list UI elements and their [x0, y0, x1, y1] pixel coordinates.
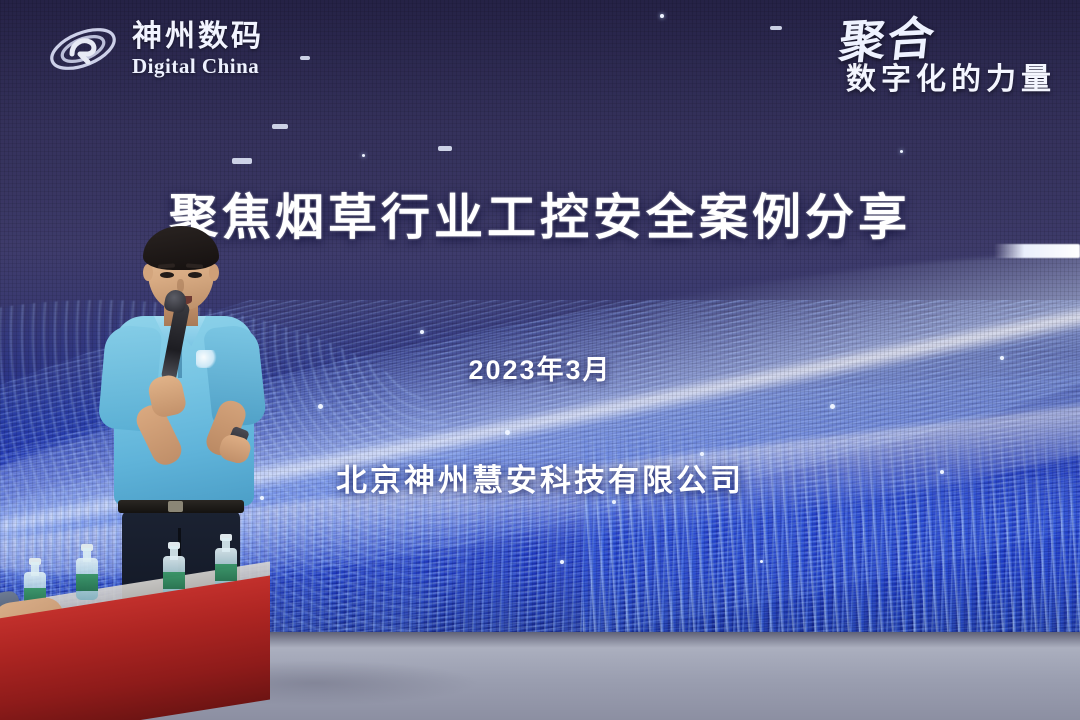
particle-dot — [362, 154, 365, 157]
particle-dot — [660, 14, 664, 18]
particle-dash — [770, 26, 782, 30]
particle-dot — [318, 404, 323, 409]
brand-name-en: Digital China — [132, 56, 264, 77]
particle-dash — [232, 158, 252, 164]
belt-buckle — [168, 501, 183, 512]
brand-lockup: 神州数码 Digital China — [46, 18, 264, 80]
presentation-photo: 神州数码 Digital China 聚合 数字化的力量 聚焦烟草行业工控安全案… — [0, 0, 1080, 720]
particle-dash — [300, 56, 310, 60]
presenter-hair — [143, 226, 219, 270]
brand-name-cn: 神州数码 — [132, 22, 264, 52]
foreground-table — [0, 540, 270, 720]
shirt-emblem-icon — [196, 350, 218, 368]
presenter-eye-right — [188, 272, 202, 278]
presenter-ear-left — [143, 264, 153, 281]
particle-dot — [505, 430, 510, 435]
particle-dash — [272, 124, 288, 129]
slogan-block: 聚合 数字化的力量 — [840, 16, 1056, 98]
digital-china-spiral-logo — [46, 18, 120, 80]
presenter-ear-right — [209, 264, 219, 281]
water-bottle — [76, 544, 98, 600]
particle-dot — [420, 330, 424, 334]
particle-dot — [760, 560, 763, 563]
particle-dot — [560, 560, 564, 564]
presenter-eye-left — [160, 272, 174, 278]
particle-dot — [830, 404, 835, 409]
particle-dot — [900, 150, 903, 153]
particle-dash — [438, 146, 452, 151]
particle-dot — [612, 500, 616, 504]
